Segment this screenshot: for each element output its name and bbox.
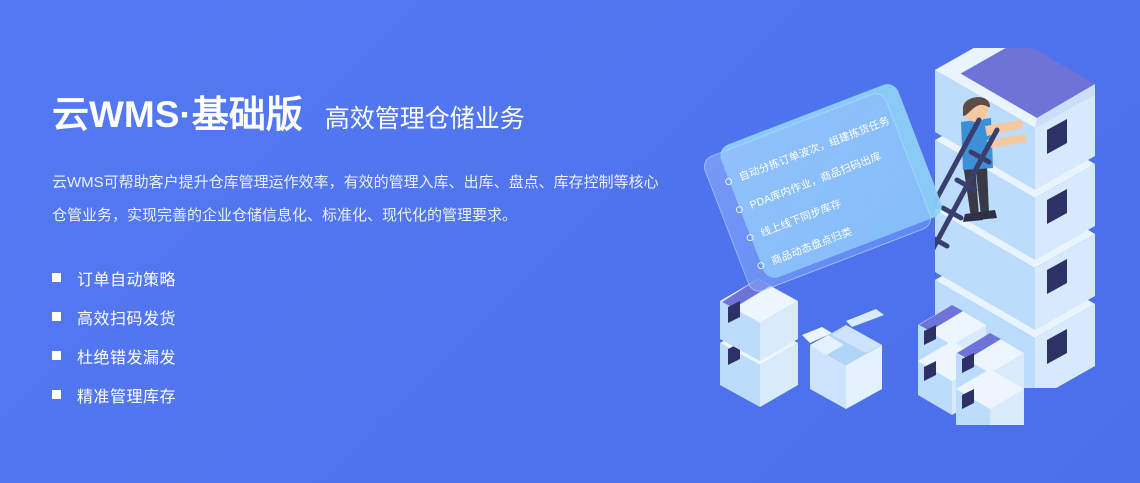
page-subtitle: 高效管理仓储业务 <box>325 96 525 142</box>
list-item: 高效扫码发货 <box>52 297 702 336</box>
feature-callout-card: 自动分拣订单波次，组建拣货任务 PDA库内作业，商品扫码出库 线上线下同步库存 … <box>718 110 933 270</box>
carton-group <box>700 265 1040 430</box>
bullet-square-icon <box>52 312 61 321</box>
bullet-square-icon <box>52 273 61 282</box>
page-title: 云WMS·基础版 <box>52 92 303 138</box>
worker-figure <box>961 97 1027 222</box>
feature-label: 订单自动策略 <box>77 266 176 290</box>
bullet-square-icon <box>52 351 61 360</box>
carton-stack-icon <box>720 279 798 407</box>
hero-description: 云WMS可帮助客户提升仓库管理运作效率，有效的管理入库、出库、盘点、库存控制等核… <box>52 166 672 232</box>
circle-bullet-icon <box>756 261 765 270</box>
circle-bullet-icon <box>745 233 754 242</box>
feature-label: 精准管理库存 <box>77 383 176 407</box>
circle-bullet-icon <box>724 177 733 186</box>
warehouse-illustration: 自动分拣订单波次，组建拣货任务 PDA库内作业，商品扫码出库 线上线下同步库存 … <box>690 0 1140 483</box>
feature-label: 杜绝错发漏发 <box>77 344 176 368</box>
bullet-square-icon <box>52 390 61 399</box>
hero-title-row: 云WMS·基础版 高效管理仓储业务 <box>52 92 702 142</box>
list-item: 精准管理库存 <box>52 375 702 414</box>
hero-text-block: 云WMS·基础版 高效管理仓储业务 云WMS可帮助客户提升仓库管理运作效率，有效… <box>52 92 702 430</box>
feature-list: 订单自动策略 高效扫码发货 杜绝错发漏发 精准管理库存 <box>52 258 702 414</box>
list-item: 订单自动策略 <box>52 258 702 297</box>
list-item: 杜绝错发漏发 <box>52 336 702 375</box>
feature-label: 高效扫码发货 <box>77 305 176 329</box>
open-carton-icon <box>802 309 884 409</box>
hero-banner: 云WMS·基础版 高效管理仓储业务 云WMS可帮助客户提升仓库管理运作效率，有效… <box>0 0 1140 483</box>
circle-bullet-icon <box>735 205 744 214</box>
